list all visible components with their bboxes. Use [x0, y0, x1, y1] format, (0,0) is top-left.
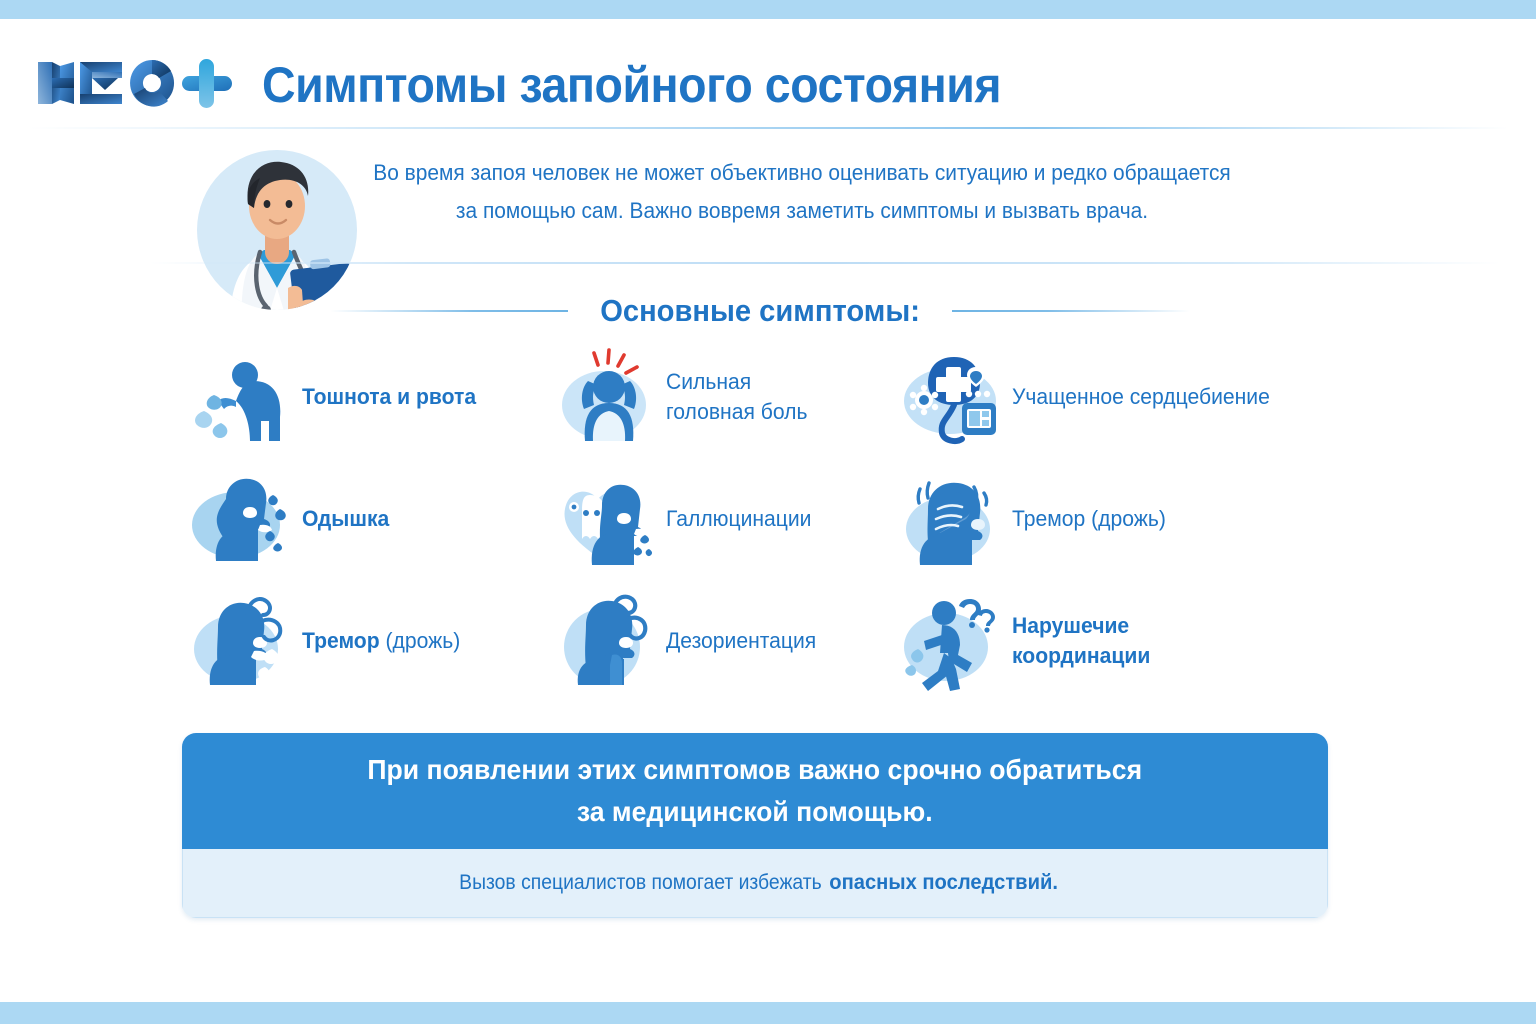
callout-secondary: Вызов специалистов помогает избежать опа…	[182, 849, 1328, 918]
symptom-item-coordination[interactable]: Нарушечие координации	[898, 586, 1156, 696]
symptom-label: Тремор (дрожь)	[1012, 504, 1166, 534]
intro-line-2: за помощью сам. Важно вовремя заметить с…	[346, 192, 1258, 230]
top-accent-band	[0, 0, 1536, 19]
section-title: Основные симптомы:	[600, 293, 920, 329]
symptom-item-tremor-head[interactable]: Тремор (дрожь)	[898, 464, 1172, 574]
intro-paragraph: Во время запоя человек не может объектив…	[346, 154, 1258, 230]
symptom-row: Одышка	[180, 464, 1360, 574]
callout-secondary-emphasis: опасных последствий.	[829, 871, 1058, 894]
headache-icon	[552, 347, 656, 447]
symptom-item-tachycardia[interactable]: Учащенное сердцебиение	[898, 342, 1281, 452]
intro-divider	[150, 262, 1500, 264]
symptom-item-disorientation[interactable]: Дезориентация	[552, 586, 823, 696]
symptoms-grid: Тошнота и рвота	[180, 342, 1360, 704]
symptom-label: Тремор (дрожь)	[302, 626, 460, 656]
symptom-label: Нарушечие координации	[1012, 611, 1150, 671]
tremor-head-hands-icon	[898, 469, 1002, 569]
hallucination-ghost-icon	[552, 469, 656, 569]
symptom-label: Галлюцинации	[666, 504, 811, 534]
vomiting-icon	[188, 347, 292, 447]
header-divider	[28, 127, 1508, 129]
symptom-item-nausea[interactable]: Тошнота и рвота	[188, 342, 483, 452]
symptom-label: Тошнота и рвота	[302, 382, 476, 412]
symptom-item-hallucinations[interactable]: Галлюцинации	[552, 464, 818, 574]
symptom-row: Тремор (дрожь)	[180, 586, 1360, 696]
tremor-sweat-icon	[188, 591, 292, 691]
disorientation-icon	[552, 591, 656, 691]
coordination-loss-icon	[898, 591, 1002, 691]
neo-plus-logo	[30, 52, 235, 114]
symptom-row: Тошнота и рвота	[180, 342, 1360, 452]
symptom-label-suffix: (дрожь)	[380, 628, 461, 653]
callout-secondary-text: Вызов специалистов помогает избежать опа…	[452, 871, 1058, 895]
section-rule-left	[330, 310, 568, 312]
symptom-item-dyspnea[interactable]: Одышка	[188, 464, 393, 574]
symptom-label-main: Тремор	[302, 628, 380, 653]
symptom-label: Сильная головная боль	[666, 367, 807, 427]
symptom-label: Одышка	[302, 504, 389, 534]
symptom-label: Дезориентация	[666, 626, 816, 656]
intro-line-1: Во время запоя человек не может объектив…	[346, 154, 1258, 192]
intro-section: Во время запоя человек не может объектив…	[0, 130, 1536, 262]
symptom-label: Учащенное сердцебиение	[1012, 382, 1270, 412]
blood-pressure-monitor-icon	[898, 347, 1002, 447]
infographic-page: Симптомы запойного состояния	[0, 0, 1536, 1024]
bottom-accent-band	[0, 1002, 1536, 1024]
callout-primary-text: При появлении этих симптомов важно срочн…	[368, 749, 1143, 833]
shortness-of-breath-icon	[188, 469, 292, 569]
callout-box: При появлении этих симптомов важно срочн…	[182, 733, 1328, 918]
section-rule-right	[952, 310, 1190, 312]
callout-secondary-prefix: Вызов специалистов помогает избежать	[459, 871, 822, 895]
section-header: Основные симптомы:	[0, 288, 1536, 334]
callout-primary: При появлении этих симптомов важно срочн…	[182, 733, 1328, 849]
symptom-item-tremor-sweat[interactable]: Тремор (дрожь)	[188, 586, 467, 696]
page-title: Симптомы запойного состояния	[262, 56, 1001, 114]
symptom-item-headache[interactable]: Сильная головная боль	[552, 342, 813, 452]
header: Симптомы запойного состояния	[0, 19, 1536, 127]
